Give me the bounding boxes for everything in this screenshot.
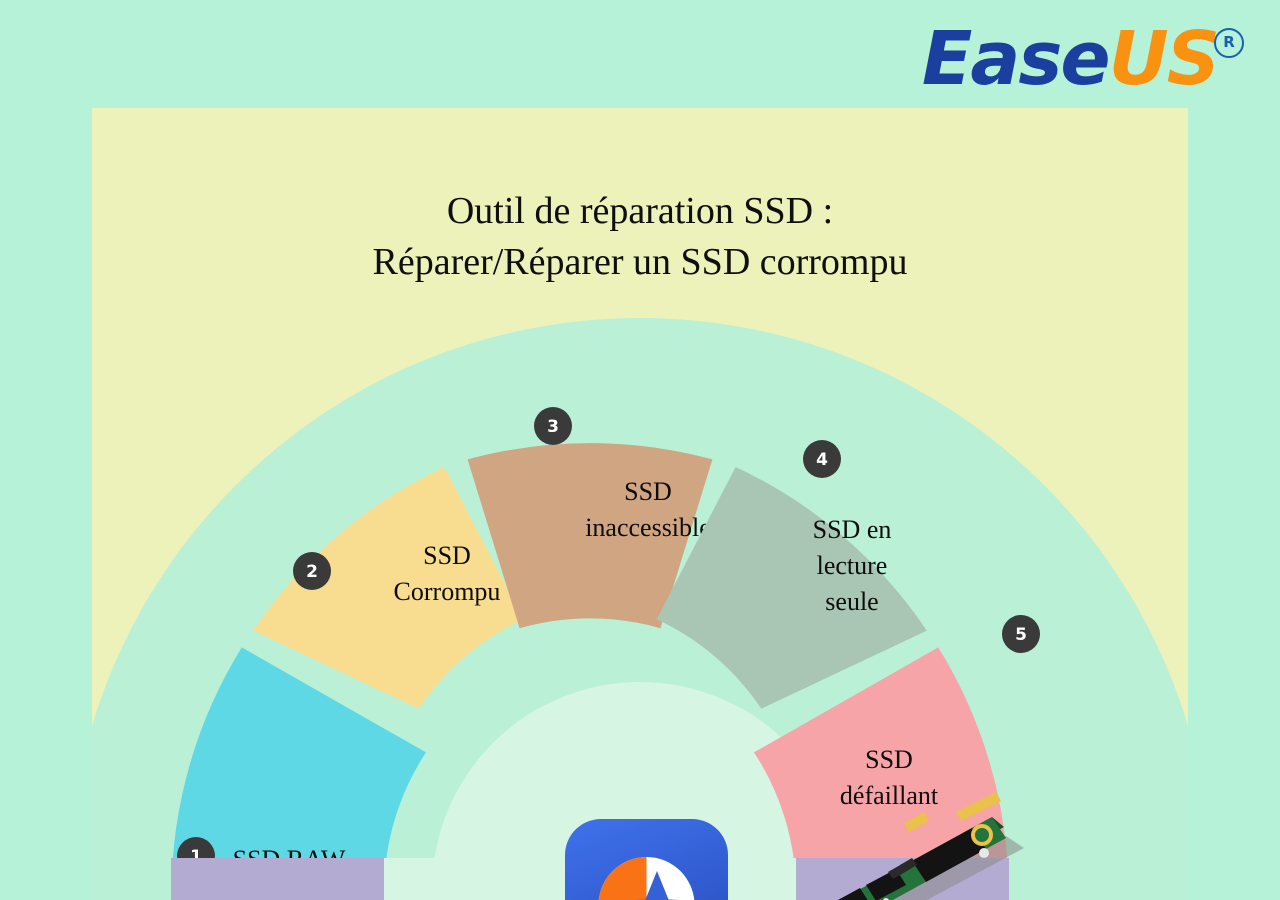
segment-1-wedge[interactable] xyxy=(172,647,427,890)
svg-text:5: 5 xyxy=(1015,625,1027,645)
segment-ssd-raw[interactable]: SSD RAW 1 xyxy=(172,647,427,890)
badge-5: 5 xyxy=(1002,615,1040,653)
registered-trademark-icon: R xyxy=(1214,28,1244,58)
segment-3-label-line-1: SSD xyxy=(624,477,672,506)
segment-1-label: SSD RAW xyxy=(233,845,346,874)
svg-text:4: 4 xyxy=(816,450,828,470)
segment-3-wedge[interactable] xyxy=(468,443,713,628)
badge-2: 2 xyxy=(293,552,331,590)
ground-band-left-trim xyxy=(92,858,171,900)
svg-text:2: 2 xyxy=(306,562,318,582)
segment-2-label-line-2: Corrompu xyxy=(394,577,501,606)
segment-ssd-lecture-seule[interactable]: SSD en lecture seule 4 xyxy=(657,440,927,709)
m2-ssd-stick xyxy=(688,770,1038,900)
ssd-nand-chips xyxy=(716,869,906,900)
infographic-canvas: EaseUS R Outil de réparation SSD : Répar… xyxy=(0,0,1280,900)
logo-text-ease: Ease xyxy=(922,16,1109,102)
badge-3: 3 xyxy=(534,407,572,445)
segment-4-label-line-1: SSD en xyxy=(813,515,892,544)
segment-4-label-line-3: seule xyxy=(825,587,878,616)
segment-2-wedge[interactable] xyxy=(253,467,523,709)
segment-4-wedge[interactable] xyxy=(657,467,927,709)
segment-ssd-corrompu[interactable]: SSD Corrompu 2 xyxy=(253,467,523,709)
svg-text:3: 3 xyxy=(547,417,559,437)
logo-text-us: US xyxy=(1109,16,1218,102)
title-line-1: Outil de réparation SSD : xyxy=(92,186,1188,237)
badge-1: 1 xyxy=(177,837,215,875)
segment-2-label-line-1: SSD xyxy=(423,541,471,570)
infographic-card: Outil de réparation SSD : Réparer/Répare… xyxy=(92,108,1188,900)
badge-4: 4 xyxy=(803,440,841,478)
easeus-logo: EaseUS R xyxy=(922,22,1218,96)
segment-ssd-inaccessible[interactable]: SSD inaccessible 3 xyxy=(468,407,713,628)
page-title: Outil de réparation SSD : Réparer/Répare… xyxy=(92,186,1188,287)
title-line-2: Réparer/Réparer un SSD corrompu xyxy=(92,237,1188,288)
svg-text:1: 1 xyxy=(190,847,202,867)
segment-3-label-line-2: inaccessible xyxy=(585,513,711,542)
segment-4-label-line-2: lecture xyxy=(817,551,888,580)
ssd-mounting-hole xyxy=(973,826,991,844)
